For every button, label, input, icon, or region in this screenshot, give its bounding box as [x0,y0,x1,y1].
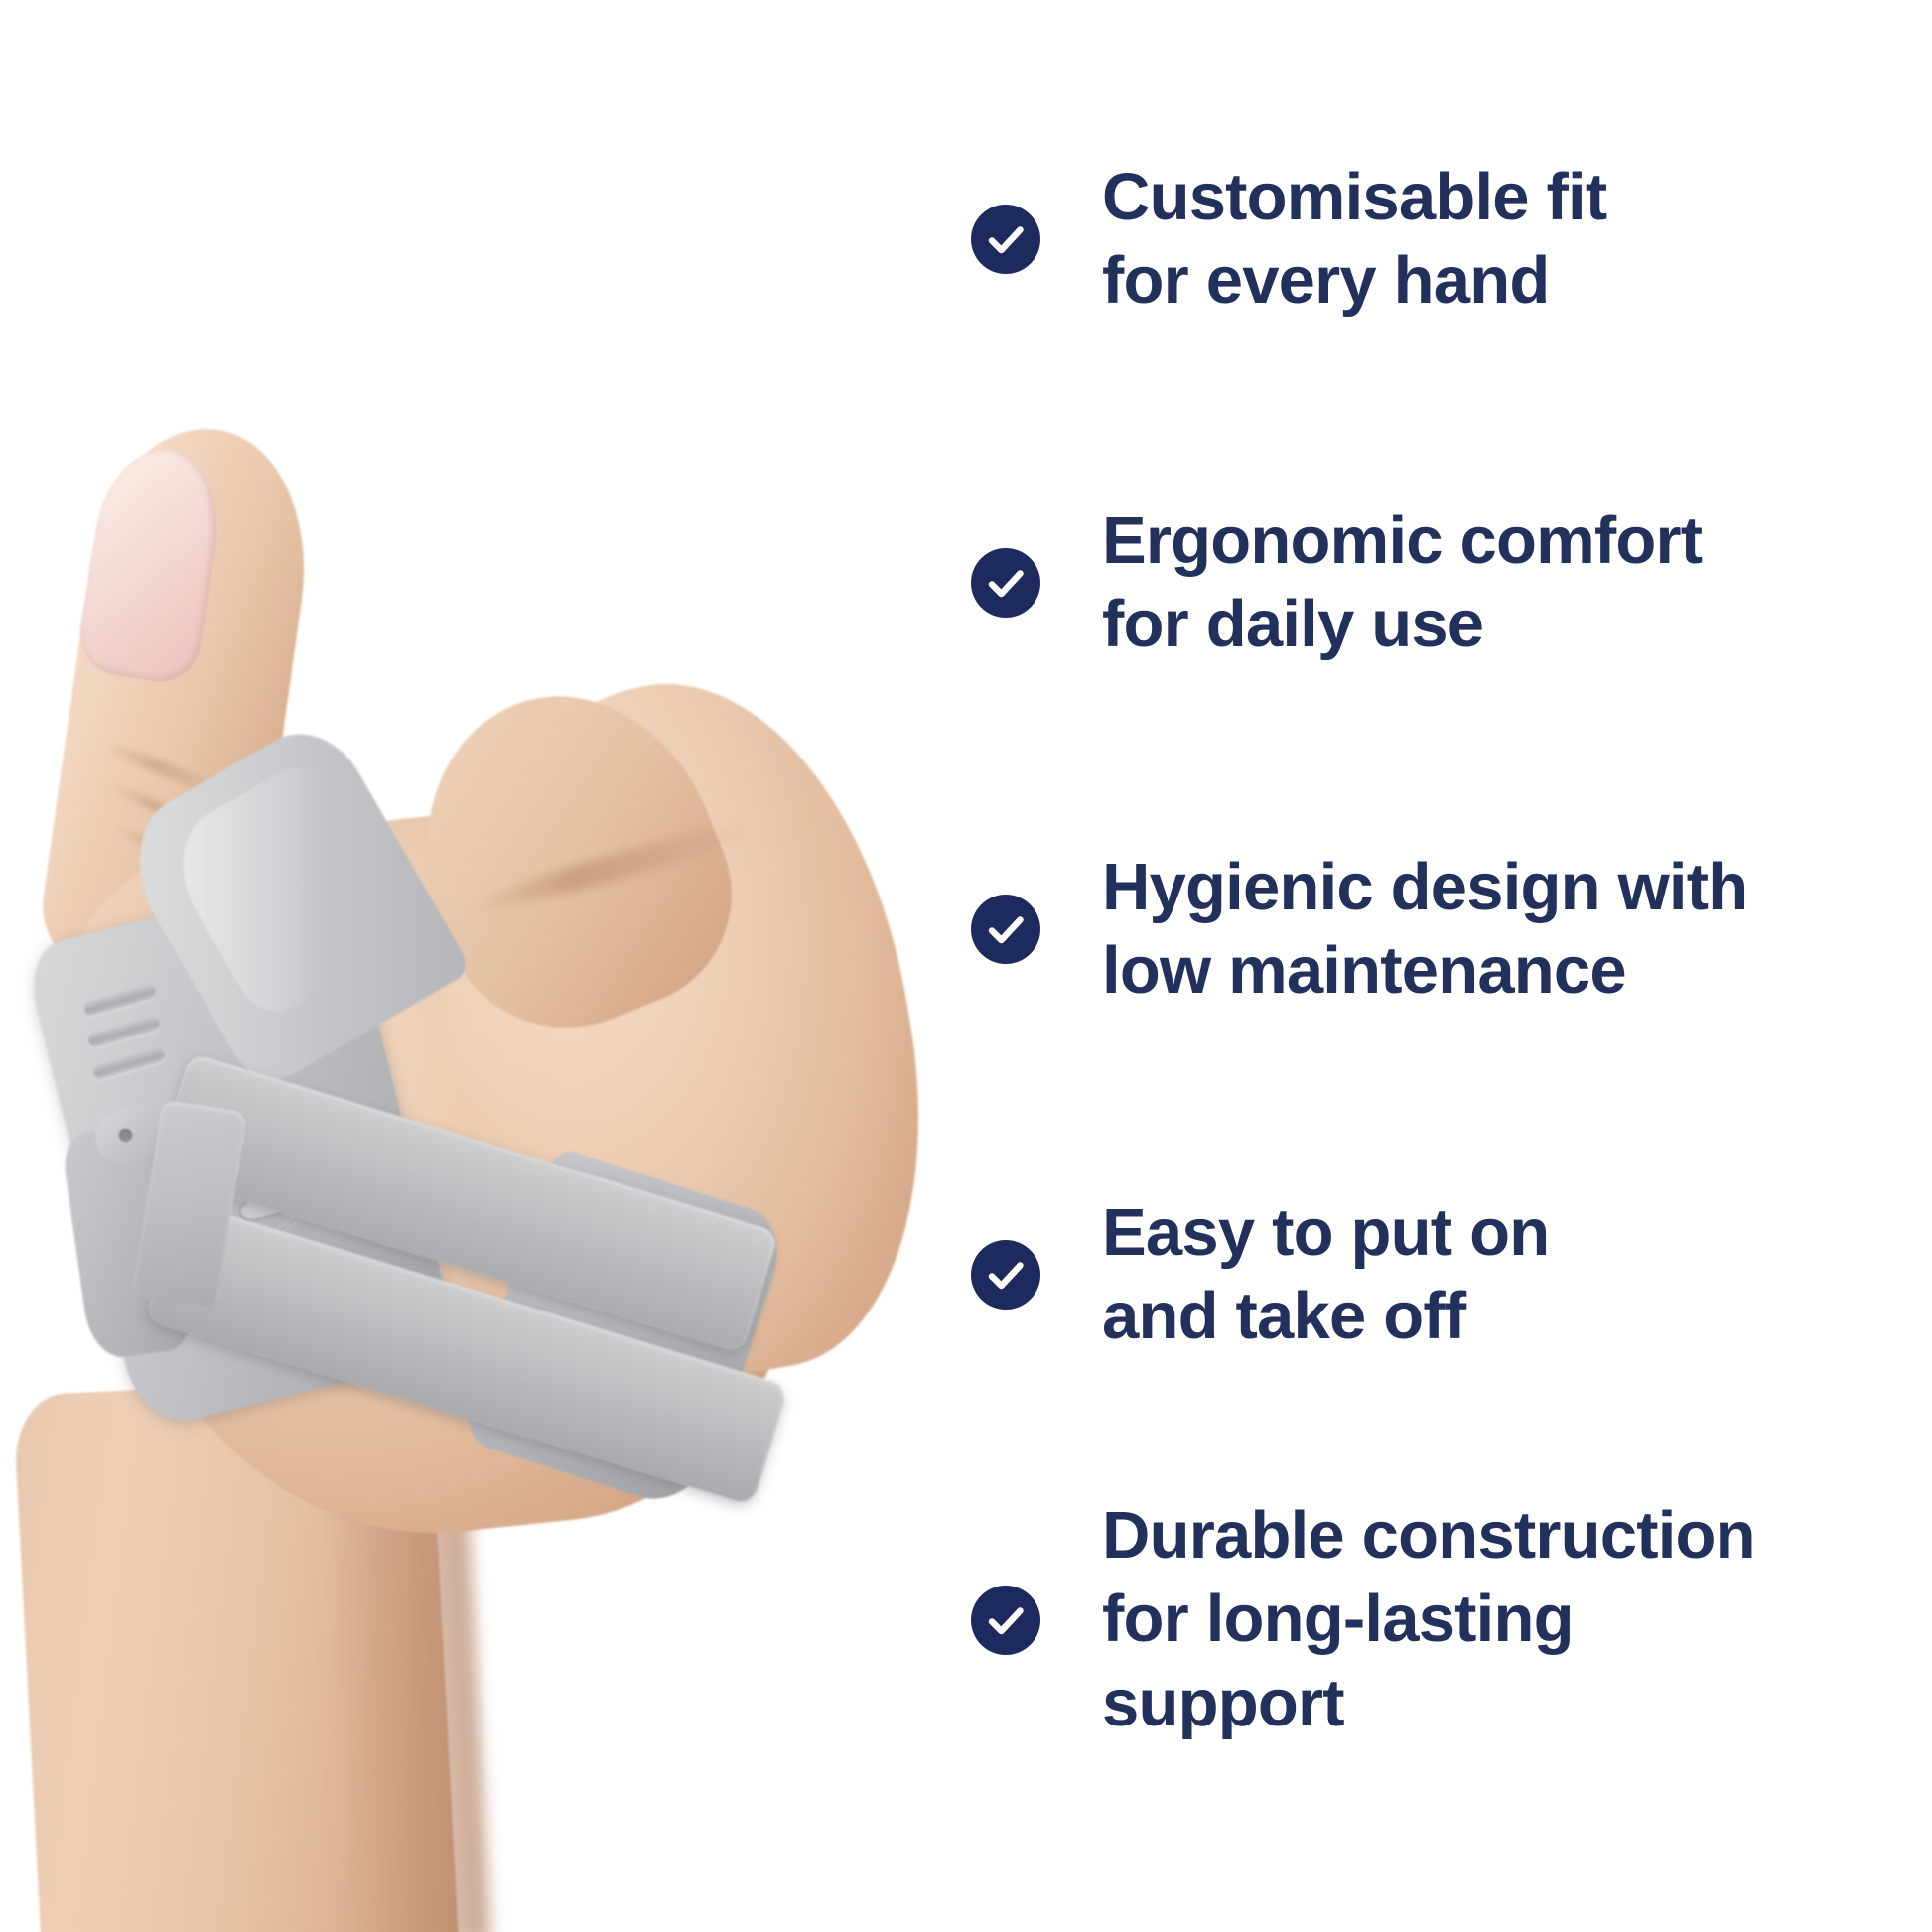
check-circle-icon [971,1240,1040,1310]
product-photo [0,0,953,1932]
check-circle-icon [971,205,1040,274]
feature-list: Customisable fit for every hand Ergonomi… [971,0,1932,1932]
check-circle-icon [971,548,1040,618]
feature-label: Durable construction for long-lasting su… [1102,1494,1755,1745]
feature-item-ergonomic-comfort: Ergonomic comfort for daily use [971,499,1924,667]
feature-item-easy-to-put-on: Easy to put on and take off [971,1191,1924,1359]
check-circle-icon [971,1586,1040,1655]
feature-item-hygienic-design: Hygienic design with low maintenance [971,846,1924,1014]
check-circle-icon [971,895,1040,964]
feature-label: Customisable fit for every hand [1102,156,1606,324]
infographic-canvas: Customisable fit for every hand Ergonomi… [0,0,1932,1932]
splint-vent-hole [119,1129,132,1142]
feature-label: Hygienic design with low maintenance [1102,846,1747,1014]
feature-item-customisable-fit: Customisable fit for every hand [971,156,1924,324]
feature-label: Easy to put on and take off [1102,1191,1549,1359]
feature-item-durable-construction: Durable construction for long-lasting su… [971,1494,1924,1745]
feature-label: Ergonomic comfort for daily use [1102,499,1702,667]
